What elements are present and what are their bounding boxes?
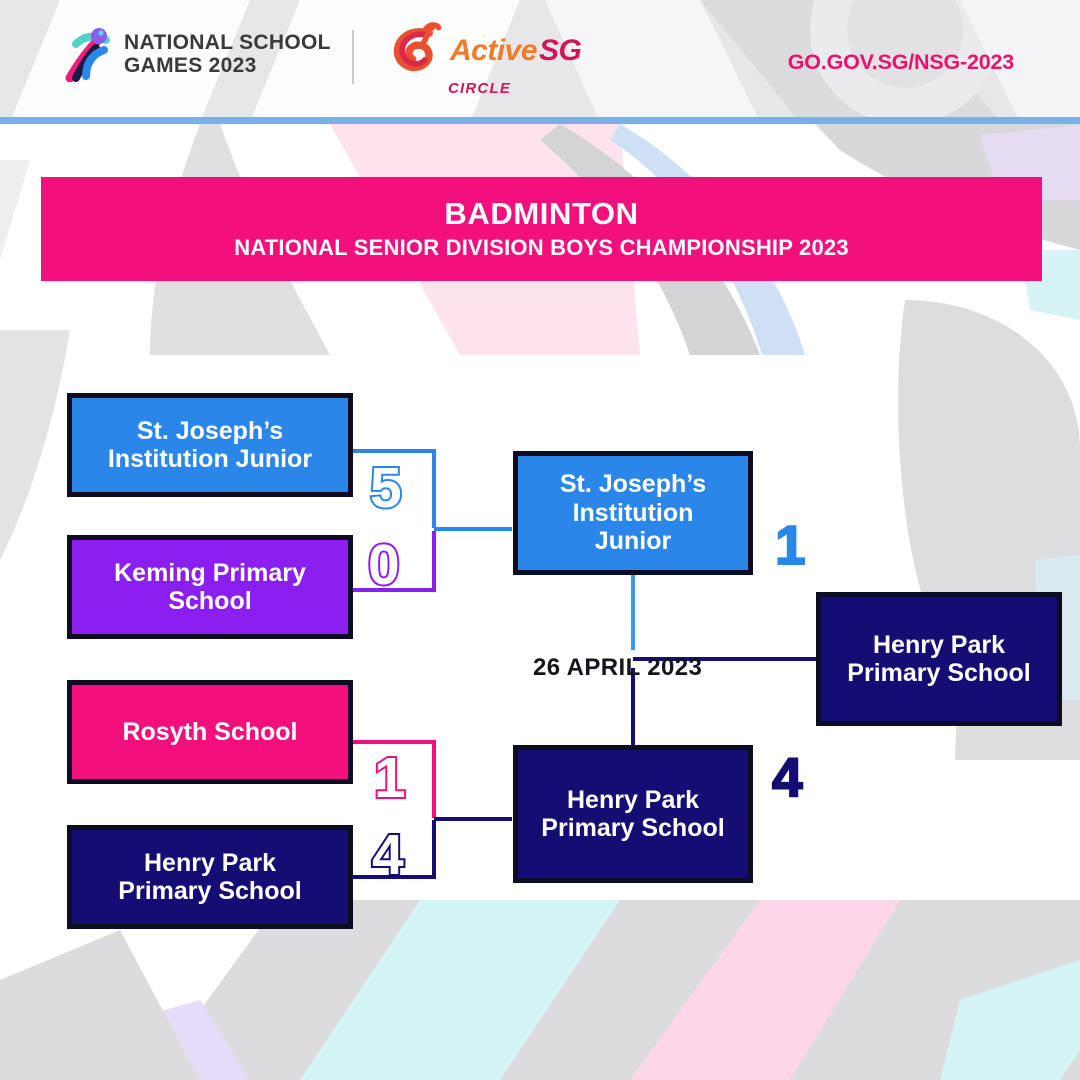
team-name: St. Joseph’s Institution Junior: [100, 417, 320, 474]
championship-subtitle: NATIONAL SENIOR DIVISION BOYS CHAMPIONSH…: [234, 233, 849, 263]
bracket-team-box[interactable]: Henry Park Primary School: [67, 825, 353, 929]
team-score: 4: [372, 822, 403, 888]
team-score: 1: [374, 745, 405, 811]
team-name: Keming Primary School: [106, 559, 314, 616]
header-divider-rule: [0, 117, 1080, 124]
activesg-swirl-icon: [392, 22, 448, 79]
poster-canvas: NATIONAL SCHOOL GAMES 2023 ActiveSG CIRC…: [0, 0, 1080, 1080]
team-name: Rosyth School: [114, 718, 305, 747]
bracket-team-box[interactable]: Rosyth School: [67, 680, 353, 784]
bracket-team-box[interactable]: Henry Park Primary School: [513, 745, 753, 883]
team-name: Henry Park Primary School: [110, 849, 309, 906]
running-figure-icon: [62, 26, 114, 82]
activesg-circle-text: CIRCLE: [448, 80, 511, 97]
page-header: NATIONAL SCHOOL GAMES 2023 ActiveSG CIRC…: [0, 0, 1080, 118]
final-match-date: 26 APRIL 2023: [533, 654, 702, 682]
team-name: St. Joseph’s Institution Junior: [552, 470, 714, 556]
team-score: 5: [370, 455, 401, 521]
tournament-bracket: St. Joseph’s Institution Junior 5 Keming…: [0, 0, 1080, 1080]
sport-title: BADMINTON: [444, 195, 638, 233]
activesg-sg-text: SG: [539, 34, 581, 68]
team-name: Henry Park Primary School: [839, 631, 1038, 688]
team-name: Henry Park Primary School: [533, 786, 732, 843]
title-banner: BADMINTON NATIONAL SENIOR DIVISION BOYS …: [41, 177, 1042, 281]
logo-divider: [352, 30, 354, 84]
national-school-games-logo: NATIONAL SCHOOL GAMES 2023: [62, 26, 331, 82]
activesg-active-text: Active: [450, 34, 537, 68]
activesg-circle-logo: ActiveSG CIRCLE: [392, 22, 581, 97]
team-score: 4: [772, 745, 802, 809]
campaign-url[interactable]: GO.GOV.SG/NSG-2023: [788, 50, 1014, 75]
bracket-team-box[interactable]: St. Joseph’s Institution Junior: [513, 451, 753, 575]
bracket-team-box[interactable]: Keming Primary School: [67, 535, 353, 639]
team-score: 1: [775, 513, 805, 577]
bracket-team-box[interactable]: St. Joseph’s Institution Junior: [67, 393, 353, 497]
nsg-logo-text: NATIONAL SCHOOL GAMES 2023: [124, 31, 331, 77]
team-score: 0: [368, 532, 399, 598]
champion-team-box[interactable]: Henry Park Primary School: [816, 592, 1062, 726]
